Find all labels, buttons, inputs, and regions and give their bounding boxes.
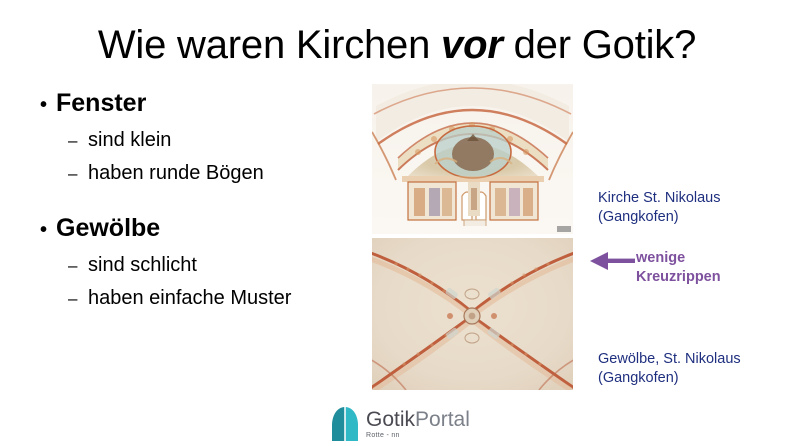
ribbed-vault-illustration	[372, 238, 573, 390]
arrow-left-icon	[588, 250, 636, 272]
image-cross-ribbed-vault	[372, 238, 573, 390]
bullet-subitem-label: haben einfache Muster	[88, 285, 291, 312]
logo-subtitle: Rotte - nn	[366, 431, 470, 440]
dash-marker-icon: –	[68, 160, 88, 187]
bullet-subitem: – sind klein	[34, 127, 364, 154]
dash-marker-icon: –	[68, 127, 88, 154]
content-bullet-list: • Fenster – sind klein – haben runde Bög…	[34, 88, 364, 312]
logo-wordmark: GotikPortal Rotte - nn	[366, 409, 470, 440]
page-title: Wie waren Kirchen vor der Gotik?	[0, 22, 794, 68]
bullet-subitem-label: haben runde Bögen	[88, 160, 264, 187]
bullet-heading-label: Fenster	[56, 88, 146, 118]
bullet-subitem-label: sind schlicht	[88, 252, 197, 279]
bullet-marker-icon: •	[34, 215, 56, 245]
page-title-emphasis: vor	[441, 23, 503, 67]
bullet-heading-gewoelbe: • Gewölbe	[34, 213, 364, 245]
bullet-subitem-label: sind klein	[88, 127, 171, 154]
bullet-group-gewoelbe: • Gewölbe – sind schlicht – haben einfac…	[34, 213, 364, 312]
page-title-part-1: Wie waren Kirchen	[98, 23, 441, 67]
annotation-kreuzrippen: wenige Kreuzrippen	[588, 249, 788, 287]
page-title-part-2: der Gotik?	[503, 23, 696, 67]
church-apse-illustration	[372, 84, 573, 234]
bullet-subitem: – haben einfache Muster	[34, 285, 364, 312]
logo-word-gotik: Gotik	[366, 408, 415, 431]
logo-wordmark-main: GotikPortal	[366, 409, 470, 430]
bullet-subitem: – haben runde Bögen	[34, 160, 364, 187]
logo-word-portal: Portal	[415, 408, 470, 431]
bullet-marker-icon: •	[34, 90, 56, 120]
annotation-label: wenige Kreuzrippen	[636, 249, 721, 287]
dash-marker-icon: –	[68, 285, 88, 312]
bullet-subitem: – sind schlicht	[34, 252, 364, 279]
photo-watermark	[557, 226, 571, 232]
caption-church: Kirche St. Nikolaus (Gangkofen)	[598, 189, 794, 227]
caption-vault: Gewölbe, St. Nikolaus (Gangkofen)	[598, 350, 794, 388]
image-romanesque-church-apse	[372, 84, 573, 234]
gothic-arch-logo-icon	[330, 406, 360, 442]
bullet-heading-fenster: • Fenster	[34, 88, 364, 120]
dash-marker-icon: –	[68, 252, 88, 279]
bullet-heading-label: Gewölbe	[56, 213, 160, 243]
gotikportal-logo[interactable]: GotikPortal Rotte - nn	[330, 405, 480, 443]
bullet-group-fenster: • Fenster – sind klein – haben runde Bög…	[34, 88, 364, 187]
